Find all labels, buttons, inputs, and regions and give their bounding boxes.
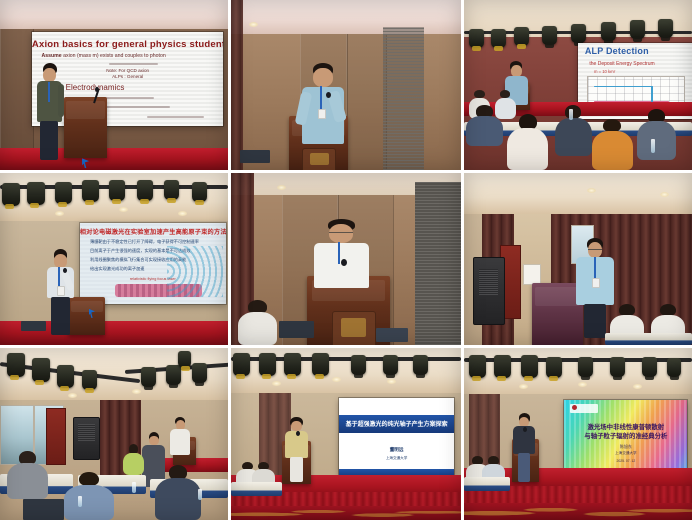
spotlight-icon [494, 355, 511, 378]
spotlight-icon [164, 180, 179, 200]
badge [592, 278, 600, 288]
spotlight-icon [137, 180, 153, 201]
photo-panel-top-center [231, 0, 461, 170]
microphone-head [95, 87, 99, 92]
speaker-person [312, 219, 372, 288]
spotlight-icon [192, 182, 207, 202]
slide-title: 基于超强激光的纯光轴子产生方案探索 [339, 419, 454, 428]
lanyard [320, 86, 322, 109]
glasses-icon [588, 249, 603, 254]
patterned-carpet [231, 506, 461, 520]
photo-panel-middle-right [464, 173, 692, 345]
body [507, 128, 548, 170]
spotlight-icon [259, 353, 276, 376]
photo-panel-bottom-center: 基于超强激光的纯光轴子产生方案探索 董明远 上海交通大学 [231, 348, 461, 520]
laptop [279, 321, 314, 338]
floor-loudspeaker [73, 417, 100, 460]
spotlight-icon [2, 183, 20, 206]
photo-panel-middle-center [231, 173, 461, 345]
projection-screen: 相对论电磁激光在实验室加速产生高能原子束的方法 薄膜靶由于不稳定性已打开了障碍，… [80, 223, 226, 304]
body [155, 478, 201, 520]
audience-member [555, 105, 591, 156]
spotlight-icon [491, 29, 506, 48]
slide-title-line2: 与轴子粒子辐射的准经典分析 [564, 431, 687, 440]
audience-member [7, 451, 48, 499]
slide-presenter: 陈旭东 [564, 444, 687, 450]
wall-seam-b [346, 34, 387, 170]
slide-title-bar: 基于超强激光的纯光轴子产生方案探索 [339, 415, 454, 432]
spotlight-icon [658, 19, 673, 38]
spotlight-icon [233, 353, 250, 376]
spotlight-icon [166, 365, 181, 385]
spotlight-icon [55, 182, 72, 204]
head [511, 65, 522, 76]
body [64, 485, 114, 520]
spotlight-icon [141, 367, 156, 387]
spotlight-icon [601, 22, 616, 41]
speaker-person [43, 249, 77, 335]
head [500, 90, 511, 98]
water-bottle [569, 109, 573, 120]
spotlight-icon [521, 355, 538, 378]
downlight-icon [277, 185, 286, 190]
downlight-icon [178, 211, 187, 216]
slide-bullet-1: 薄膜靶由于不稳定性已打开了障碍，电子获得不可控制速率 [80, 239, 222, 245]
spotlight-icon [610, 357, 625, 377]
audience-member [592, 119, 633, 170]
slide-title: 相对论电磁激光在实验室加速产生高能原子束的方法 [80, 227, 226, 236]
head [313, 68, 332, 87]
legs [518, 453, 530, 482]
photo-panel-top-right: ALP Detection the Deposit Energy Spectru… [464, 0, 692, 170]
body [555, 118, 591, 157]
chair [332, 311, 375, 345]
helper-desk [464, 477, 510, 491]
head [43, 68, 55, 83]
water-bottle [132, 482, 136, 493]
head [291, 421, 301, 431]
helper-desk [231, 482, 282, 496]
lanyard [594, 257, 596, 279]
ceiling [231, 0, 461, 34]
grey-column [415, 182, 461, 345]
downlight-icon [633, 384, 642, 389]
downlight-icon [519, 384, 528, 389]
speaker-person [284, 417, 309, 482]
downlight-icon [55, 211, 64, 216]
photo-panel-top-left: Axion basics for general physics student… [0, 0, 228, 170]
legs [40, 121, 59, 160]
speaker-person [30, 63, 69, 160]
spotlight-icon [351, 355, 366, 375]
audience-member [155, 465, 201, 520]
audience-member [466, 105, 502, 146]
slide-title-line1: 激光场中非线性康普顿散射 [564, 422, 687, 431]
slide-assume-rest: axion (mass m) exists and couples to pho… [63, 53, 166, 59]
body [466, 116, 502, 146]
equipment-case [376, 328, 408, 342]
water-bottle [198, 489, 202, 500]
torso [170, 429, 190, 455]
slide-bullet: the Deposit Energy Spectrum [578, 61, 687, 67]
stage-speaker [169, 417, 192, 455]
spotlight-icon [630, 20, 645, 39]
spotlight-icon [542, 26, 557, 45]
speaker-person [512, 413, 537, 482]
spotlight-icon [642, 357, 657, 377]
grey-column [383, 27, 424, 170]
figure-wavefront [167, 246, 222, 298]
photo-panel-bottom-left [0, 348, 228, 520]
photo-panel-middle-left: 相对论电磁激光在实验室加速产生高能原子束的方法 薄膜靶由于不稳定性已打开了障碍，… [0, 173, 228, 345]
body [238, 312, 277, 345]
spotlight-icon [82, 370, 97, 390]
laptop [240, 150, 270, 164]
spotlight-icon [192, 363, 207, 383]
slide-presenter: 董明远 [339, 447, 454, 453]
photo-collage: Axion basics for general physics student… [0, 0, 692, 520]
legs [51, 297, 70, 335]
body [637, 121, 676, 160]
audience-member [507, 114, 548, 170]
slide-assume-line: Assume axion (mass m) exists and couples… [32, 53, 214, 59]
body [7, 463, 48, 499]
spotlight-icon [383, 355, 398, 375]
spotlight-icon [413, 355, 428, 375]
spotlight-icon [312, 353, 329, 376]
spotlight-icon [7, 353, 25, 377]
downlight-icon [272, 381, 281, 386]
equation-1 [109, 63, 159, 65]
body [592, 131, 633, 170]
water-bottle [651, 139, 655, 153]
spotlight-icon [469, 29, 484, 48]
slide-affiliation: 上海交通大学 [564, 451, 687, 456]
spotlight-icon [57, 365, 74, 388]
slide-date: 2025. 07. 12 [564, 459, 687, 463]
slide-title: ALP Detection [578, 46, 687, 56]
lanyard [48, 82, 50, 101]
glasses-icon [329, 232, 353, 236]
red-door [46, 408, 66, 465]
spotlight-icon [469, 355, 486, 378]
spotlight-icon [27, 182, 45, 205]
helper-desk [605, 333, 692, 345]
podium [64, 97, 107, 158]
ceiling [0, 0, 228, 29]
notice-sheet [523, 264, 541, 285]
downlight-icon [68, 393, 77, 398]
slide-title: Axion basics for general physics student… [32, 39, 224, 50]
audience-member [64, 472, 114, 520]
speaker-person [298, 63, 349, 145]
spotlight-icon [571, 24, 586, 43]
lanyard [58, 267, 60, 286]
chair [302, 148, 336, 170]
spotlight-icon [284, 353, 301, 376]
university-logo [570, 404, 597, 413]
projection-screen: 基于超强激光的纯光轴子产生方案探索 董明远 上海交通大学 [339, 398, 454, 477]
head [149, 436, 159, 446]
water-bottle [78, 496, 82, 507]
laptop [21, 321, 46, 331]
slide-affiliation: 上海交通大学 [339, 456, 454, 461]
legs [584, 304, 606, 338]
ceiling [464, 173, 692, 214]
arm-right [58, 84, 64, 117]
slide-annotation: m = 10 keV [578, 69, 674, 74]
spotlight-icon [667, 358, 681, 377]
lanyard [338, 242, 340, 264]
microphone-head [296, 431, 300, 436]
spotlight-icon [178, 351, 191, 368]
floor-loudspeaker [473, 257, 505, 324]
spotlight-icon [32, 358, 50, 382]
legs [290, 457, 302, 482]
spotlight-icon [578, 357, 593, 377]
audience-member [637, 109, 676, 160]
seated-technician [238, 300, 277, 345]
body [123, 453, 144, 476]
spotlight-icon [82, 180, 99, 202]
downlight-icon [660, 192, 669, 197]
projection-screen: 激光场中非线性康普顿散射 与轴子粒子辐射的准经典分析 陈旭东 上海交通大学 20… [564, 400, 687, 469]
spotlight-icon [109, 180, 125, 201]
laptop [23, 499, 64, 520]
seated-delegate [123, 444, 144, 475]
speaker-person [576, 238, 615, 338]
badge [318, 109, 326, 119]
head [474, 90, 485, 98]
curtain-left [231, 0, 243, 170]
chart-curve-blue [594, 86, 653, 88]
badge [57, 286, 65, 296]
photo-panel-bottom-right: 激光场中非线性康普顿散射 与轴子粒子辐射的准经典分析 陈旭东 上海交通大学 20… [464, 348, 692, 520]
spotlight-icon [514, 27, 529, 46]
patterned-carpet [464, 503, 692, 520]
slide-assume-bold: Assume [41, 53, 61, 59]
head [54, 254, 67, 268]
spotlight-icon [546, 357, 562, 378]
torso [314, 243, 369, 288]
